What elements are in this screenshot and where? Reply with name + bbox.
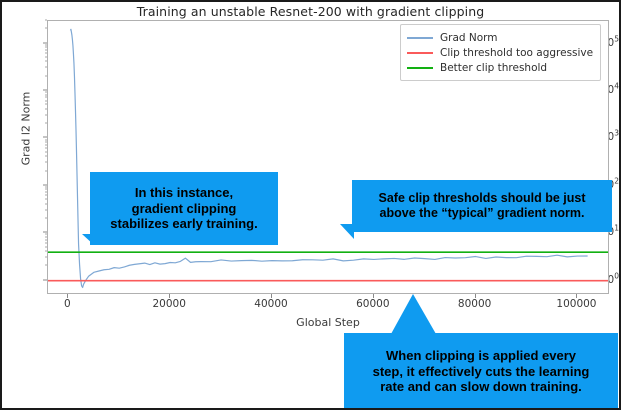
x-tick-label: 80000 [440,298,510,310]
callout-line: step, it effectively cuts the learning [344,364,618,380]
legend-item-label: Grad Norm [440,32,498,44]
screenshot-root: Training an unstable Resnet-200 with gra… [0,0,621,410]
callout-line: above the “typical” gradient norm. [352,206,612,221]
callout-line: When clipping is applied every [344,348,618,364]
callout-line: stabilizes early training. [90,216,278,232]
x-tick-mark [475,294,476,298]
matplotlib-figure: Training an unstable Resnet-200 with gra… [2,2,619,408]
x-tick-label: 40000 [236,298,306,310]
x-tick-mark [373,294,374,298]
x-tick-mark [271,294,272,298]
legend-item[interactable]: Grad Norm [407,30,593,45]
callout-annotation-1: In this instance,gradient clippingstabil… [90,172,278,245]
legend-color-swatch [407,52,433,54]
x-tick-mark [576,294,577,298]
x-tick-label: 0 [32,298,102,310]
callout-tail-3 [391,294,436,334]
x-tick-label: 20000 [134,298,204,310]
callout-line: rate and can slow down training. [344,379,618,395]
y-axis-label: Grad l2 Norm [20,59,33,199]
x-axis-label: Global Step [47,316,609,329]
legend-item[interactable]: Better clip threshold [407,60,593,75]
x-tick-label: 100000 [541,298,611,310]
legend-item[interactable]: Clip threshold too aggressive [407,45,593,60]
x-tick-mark [67,294,68,298]
x-tick-mark [169,294,170,298]
legend-item-label: Clip threshold too aggressive [440,47,593,59]
page-title: Training an unstable Resnet-200 with gra… [2,4,619,19]
callout-line: Safe clip thresholds should be just [352,191,612,206]
callout-annotation-2: Safe clip thresholds should be justabove… [352,180,612,232]
legend-color-swatch [407,37,433,39]
callout-2-text: Safe clip thresholds should be justabove… [352,191,612,222]
callout-line: gradient clipping [90,201,278,217]
chart-legend: Grad NormClip threshold too aggressiveBe… [400,24,601,81]
legend-color-swatch [407,67,433,69]
legend-item-label: Better clip threshold [440,62,547,74]
callout-annotation-3: When clipping is applied everystep, it e… [344,333,618,410]
callout-1-text: In this instance,gradient clippingstabil… [90,185,278,233]
callout-line: In this instance, [90,185,278,201]
callout-3-text: When clipping is applied everystep, it e… [344,348,618,396]
